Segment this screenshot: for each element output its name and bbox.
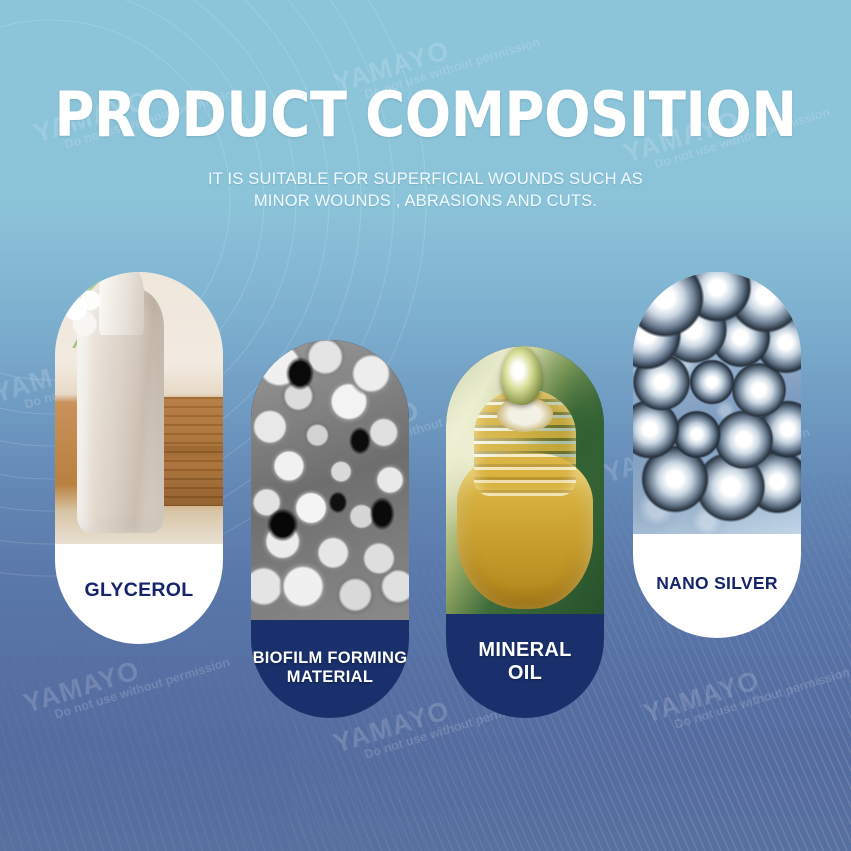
capsule-label-mineral-oil: MINERAL OIL [446,639,604,684]
capsule-label-glycerol: GLYCEROL [55,580,223,602]
capsule-mineral-oil[interactable]: MINERAL OIL [446,346,604,718]
capsule-label-mineral-oil-line-2: OIL [508,662,542,684]
sem-particles-photo [251,340,409,620]
capsule-label-biofilm-line-2: MATERIAL [287,668,373,686]
capsule-label-biofilm-line-1: BIOFILM FORMING [253,649,408,667]
capsule-biofilm-forming-material[interactable]: BIOFILM FORMING MATERIAL [251,340,409,718]
glycerol-bottle-photo [55,272,223,544]
capsule-glycerol[interactable]: GLYCEROL [55,272,223,644]
capsule-label-mineral-oil-line-1: MINERAL [478,639,571,661]
mineral-oil-bottle-photo [446,346,604,614]
capsule-nano-silver[interactable]: NANO SILVER [633,272,801,638]
capsule-label-biofilm: BIOFILM FORMING MATERIAL [251,649,409,686]
composition-capsule-row: GLYCEROL BIOFILM FORMING MATERIAL MINERA… [0,0,851,851]
nano-silver-spheres-photo [633,272,801,534]
infographic-canvas: YAMAYODo not use without permission YAMA… [0,0,851,851]
capsule-label-nano-silver: NANO SILVER [633,574,801,594]
